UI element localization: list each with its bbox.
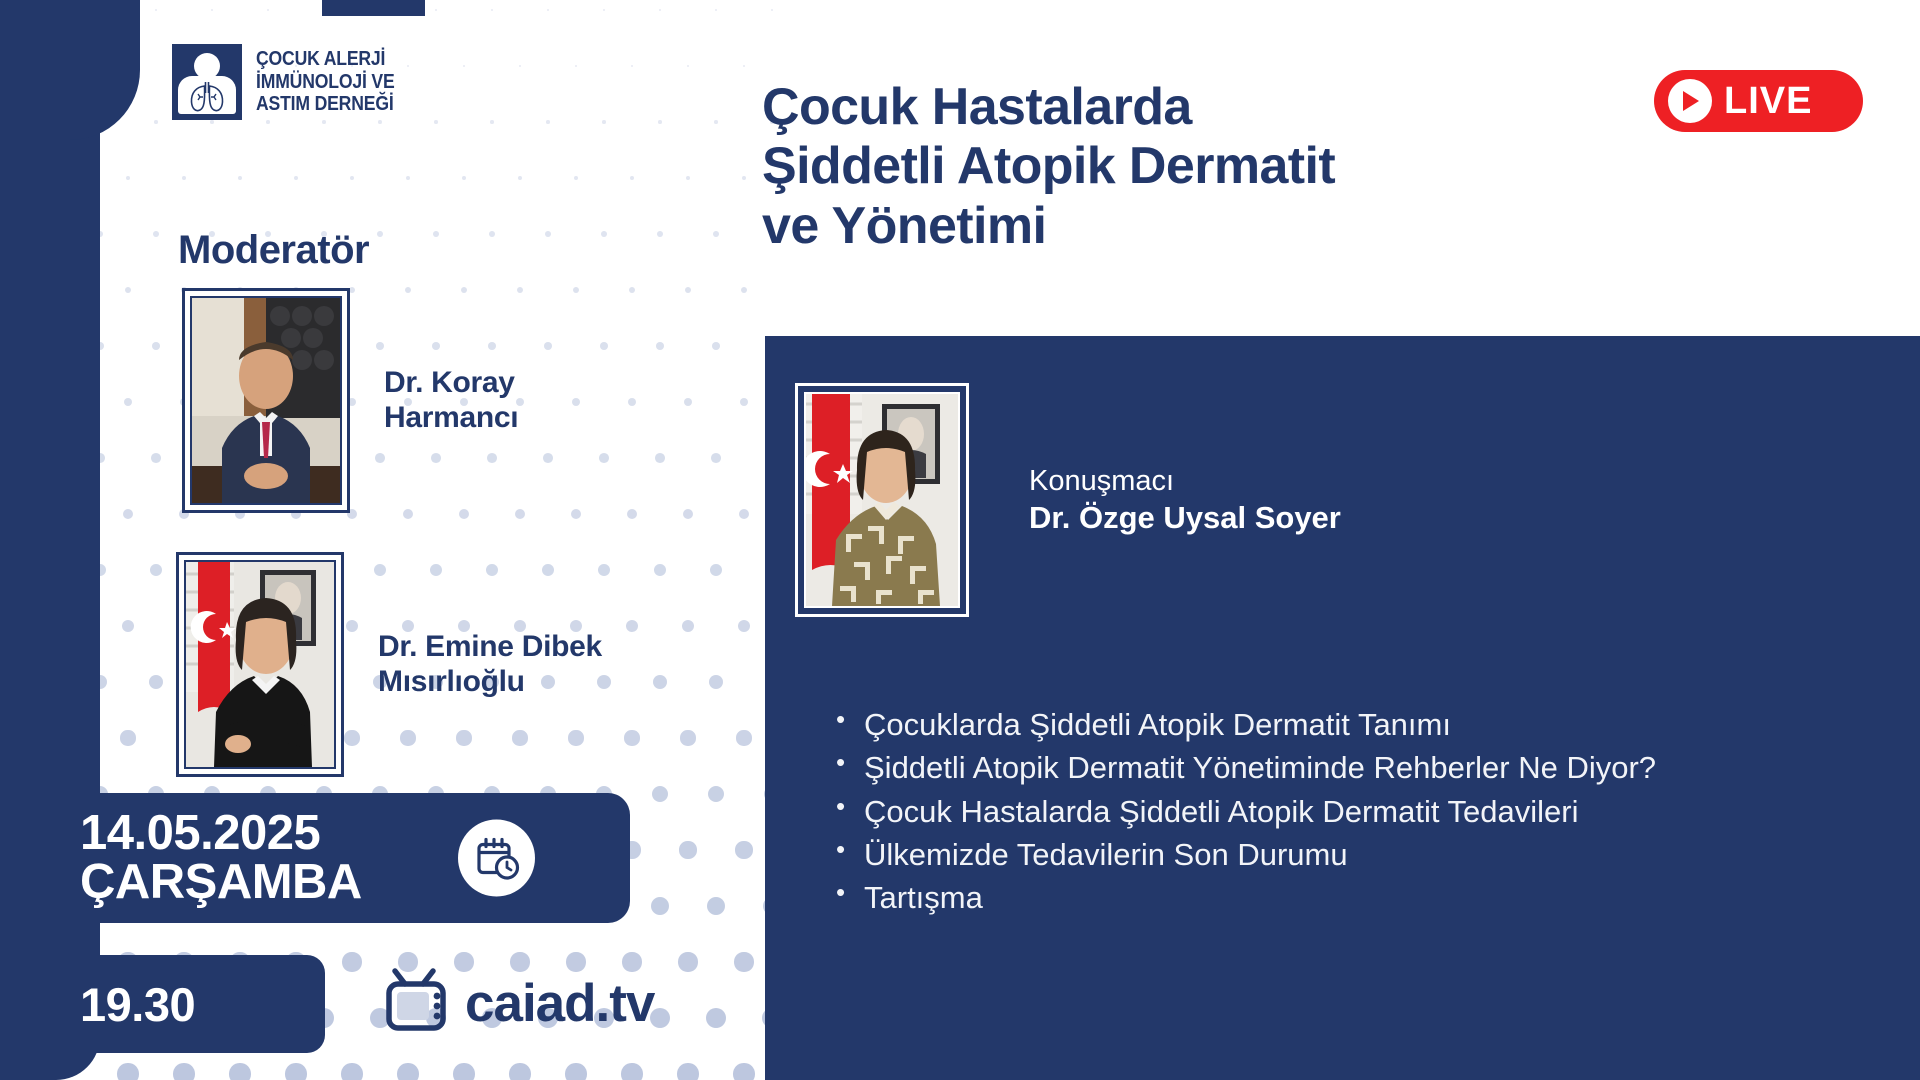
background-dot — [547, 9, 549, 11]
time-text: 19.30 — [80, 977, 195, 1032]
background-dot — [603, 9, 605, 11]
moderator-2-name-line1: Dr. Emine Dibek — [378, 630, 602, 664]
moderator-2-photo-frame — [176, 552, 344, 777]
moderator-2-name: Dr. Emine Dibek Mısırlıoğlu — [378, 630, 602, 698]
logo-line-2: İMMÜNOLOJİ VE — [256, 71, 395, 93]
background-dot — [651, 897, 669, 915]
background-dot — [659, 9, 661, 11]
background-dot — [734, 952, 753, 971]
background-dot — [682, 620, 695, 633]
background-dot — [601, 231, 607, 237]
headline-line-1: Çocuk Hastalarda — [762, 78, 1335, 137]
background-dot — [600, 342, 608, 350]
background-dot — [342, 952, 361, 971]
background-dot — [211, 9, 213, 11]
background-dot — [123, 509, 134, 520]
background-dot — [100, 564, 106, 576]
background-dot — [434, 120, 438, 124]
background-dot — [377, 231, 383, 237]
background-dot — [630, 176, 635, 181]
background-dot — [656, 342, 664, 350]
background-dot — [126, 176, 131, 181]
background-dot — [518, 176, 523, 181]
date-badge: 14.05.2025 ÇARŞAMBA — [0, 793, 630, 923]
background-dot — [397, 1063, 418, 1080]
background-dot — [677, 1063, 698, 1080]
lungs-person-icon — [172, 44, 242, 120]
play-icon — [1668, 79, 1712, 123]
background-dot — [685, 287, 692, 294]
speaker-block: Konuşmacı Dr. Özge Uysal Soyer — [795, 383, 1341, 617]
background-dot — [574, 176, 579, 181]
background-dot — [453, 1063, 474, 1080]
background-dot — [657, 231, 663, 237]
background-dot — [100, 675, 107, 689]
background-dot — [679, 841, 696, 858]
background-dot — [490, 120, 494, 124]
background-dot — [710, 564, 722, 576]
background-dot — [154, 120, 158, 124]
topic-item: Ülkemizde Tedavilerin Son Durumu — [828, 835, 1848, 875]
moderator-person-2: Dr. Emine Dibek Mısırlıoğlu — [176, 552, 602, 777]
top-navy-tab — [322, 0, 425, 16]
background-dot — [686, 176, 691, 181]
background-dot — [707, 897, 725, 915]
page-title: Çocuk Hastalarda Şiddetli Atopik Dermati… — [762, 78, 1335, 256]
background-dot — [658, 120, 662, 124]
background-dot — [210, 120, 214, 124]
speaker-role: Konuşmacı — [1029, 463, 1341, 499]
background-dot — [652, 786, 668, 802]
background-dot — [341, 1063, 362, 1080]
background-dot — [713, 231, 719, 237]
background-dot — [117, 1063, 138, 1080]
background-dot — [462, 176, 467, 181]
speaker-photo — [806, 394, 958, 606]
moderator-2-photo — [186, 562, 334, 767]
logo-line-3: ASTIM DERNEĞİ — [256, 93, 395, 115]
time-badge: 19.30 — [0, 955, 325, 1053]
background-dot — [565, 1063, 586, 1080]
logo-text: ÇOCUK ALERJİ İMMÜNOLOJİ VE ASTIM DERNEĞİ — [256, 48, 395, 115]
speaker-photo-frame — [795, 383, 969, 617]
topic-item: Şiddetli Atopik Dermatit Yönetiminde Reh… — [828, 748, 1848, 788]
moderator-1-name-line2: Harmancı — [384, 401, 518, 435]
background-dot — [654, 564, 666, 576]
background-dot — [683, 509, 694, 520]
background-dot — [151, 453, 161, 463]
background-dot — [740, 398, 749, 407]
background-dot — [322, 120, 326, 124]
calendar-clock-icon — [458, 820, 535, 897]
background-dot — [238, 176, 243, 181]
date-line-1: 14.05.2025 — [80, 809, 362, 858]
background-dot — [624, 730, 639, 745]
lungs-glyph — [187, 80, 227, 114]
background-dot — [711, 453, 721, 463]
background-dot — [735, 841, 752, 858]
background-dot — [294, 176, 299, 181]
logo-line-1: ÇOCUK ALERJİ — [256, 48, 395, 70]
moderator-1-photo — [192, 298, 340, 503]
background-dot — [655, 453, 665, 463]
background-dot — [571, 509, 582, 520]
background-dot — [182, 176, 187, 181]
background-dot — [489, 231, 495, 237]
background-dot — [733, 1063, 754, 1080]
background-dot — [125, 287, 132, 294]
background-dot — [575, 65, 578, 68]
background-dot — [100, 231, 103, 237]
background-dot — [626, 620, 639, 633]
background-dot — [706, 1008, 726, 1028]
background-dot — [267, 9, 269, 11]
live-label: LIVE — [1724, 80, 1812, 123]
headline-line-3: ve Yönetimi — [762, 197, 1335, 256]
top-left-corner-shape — [0, 0, 140, 140]
background-dot — [627, 509, 638, 520]
background-dot — [714, 120, 718, 124]
background-dot — [433, 231, 439, 237]
background-dot — [771, 9, 773, 11]
topic-item: Çocuklarda Şiddetli Atopik Dermatit Tanı… — [828, 705, 1848, 745]
background-dot — [680, 730, 695, 745]
background-dot — [546, 120, 550, 124]
background-dot — [378, 120, 382, 124]
background-dot — [684, 398, 693, 407]
moderator-1-name-line1: Dr. Koray — [384, 366, 518, 400]
background-dot — [285, 1063, 306, 1080]
background-dot — [572, 398, 581, 407]
background-dot — [709, 675, 723, 689]
background-dot — [350, 176, 355, 181]
background-dot — [715, 9, 717, 11]
background-dot — [739, 509, 750, 520]
background-dot — [743, 65, 746, 68]
background-dot — [599, 453, 609, 463]
background-dot — [122, 620, 135, 633]
background-dot — [149, 675, 163, 689]
background-dot — [712, 342, 720, 350]
topics-list: Çocuklarda Şiddetli Atopik Dermatit Tanı… — [828, 705, 1848, 921]
background-dot — [120, 730, 135, 745]
moderator-person-1: Dr. Koray Harmancı — [182, 288, 518, 513]
headline-line-2: Şiddetli Atopik Dermatit — [762, 137, 1335, 196]
background-dot — [573, 287, 580, 294]
channel-label: caiad.tv — [465, 973, 654, 1034]
date-text: 14.05.2025 ÇARŞAMBA — [80, 809, 362, 907]
background-dot — [150, 564, 162, 576]
background-dot — [266, 120, 270, 124]
association-logo: ÇOCUK ALERJİ İMMÜNOLOJİ VE ASTIM DERNEĞİ — [172, 44, 413, 120]
background-dot — [406, 176, 411, 181]
background-dot — [543, 453, 553, 463]
background-dot — [653, 675, 667, 689]
background-dot — [435, 9, 437, 11]
speaker-name: Dr. Özge Uysal Soyer — [1029, 499, 1341, 538]
background-dot — [100, 453, 105, 463]
background-dot — [631, 65, 634, 68]
background-dot — [544, 342, 552, 350]
moderator-2-name-line2: Mısırlıoğlu — [378, 665, 602, 699]
background-dot — [678, 952, 697, 971]
live-badge[interactable]: LIVE — [1654, 70, 1863, 132]
moderator-heading: Moderatör — [178, 228, 369, 273]
background-dot — [736, 730, 751, 745]
moderator-1-photo-frame — [182, 288, 350, 513]
background-dot — [545, 231, 551, 237]
background-dot — [100, 342, 104, 350]
television-icon — [383, 968, 457, 1038]
background-dot — [229, 1063, 250, 1080]
channel-logo[interactable]: caiad.tv — [383, 968, 654, 1038]
background-dot — [491, 9, 493, 11]
background-dot — [738, 620, 751, 633]
moderator-1-name: Dr. Koray Harmancı — [384, 366, 518, 434]
background-dot — [629, 287, 636, 294]
topic-item: Çocuk Hastalarda Şiddetli Atopik Dermati… — [828, 792, 1848, 832]
speaker-meta: Konuşmacı Dr. Özge Uysal Soyer — [1029, 463, 1341, 538]
background-dot — [687, 65, 690, 68]
background-dot — [509, 1063, 530, 1080]
background-dot — [152, 342, 160, 350]
background-dot — [741, 287, 748, 294]
date-line-2: ÇARŞAMBA — [80, 858, 362, 907]
background-dot — [742, 176, 747, 181]
background-dot — [155, 9, 157, 11]
background-dot — [173, 1063, 194, 1080]
background-dot — [463, 65, 466, 68]
background-dot — [519, 65, 522, 68]
background-dot — [602, 120, 606, 124]
background-dot — [124, 398, 133, 407]
background-dot — [153, 231, 159, 237]
topic-item: Tartışma — [828, 878, 1848, 918]
background-dot — [621, 1063, 642, 1080]
background-dot — [628, 398, 637, 407]
background-dot — [708, 786, 724, 802]
